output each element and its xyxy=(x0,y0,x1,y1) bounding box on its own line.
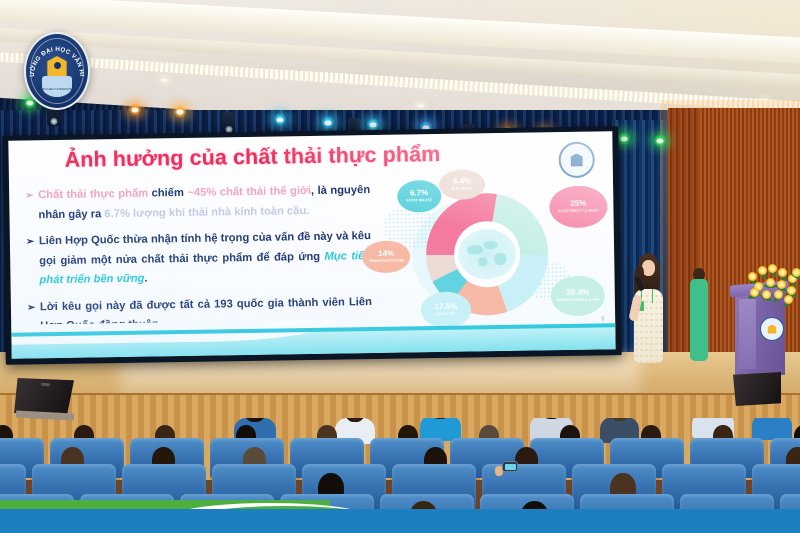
flower-bloom xyxy=(748,272,757,281)
bullet-text-segment: Chất thải thực phẩm xyxy=(38,188,152,202)
light-amber-2 xyxy=(172,105,188,118)
podium-university-logo xyxy=(760,317,784,341)
flower-bloom xyxy=(766,278,775,287)
slide-footer-wave xyxy=(11,323,615,358)
university-wall-emblem: TRƯỜNG ĐẠI HỌC VĂN HIẾN 1997 VAN HIEN UN… xyxy=(24,32,90,110)
bullet-text-segment: chiếm xyxy=(151,187,187,200)
slide-bullet: ➢Chất thải thực phẩm chiếm ~45% chất thả… xyxy=(25,181,371,225)
monitor-handle xyxy=(41,383,50,387)
emblem-gate-medallion-icon xyxy=(54,62,61,69)
podium-logo-gate-icon xyxy=(767,325,777,334)
audience-hand xyxy=(495,466,503,476)
bullet-arrow-icon: ➢ xyxy=(27,298,36,318)
label-value: 6.4% xyxy=(453,178,471,187)
label-caption: AGRICULTURE & LAND xyxy=(556,298,599,302)
bullet-arrow-icon: ➢ xyxy=(25,186,34,206)
label-value: 25% xyxy=(570,200,586,209)
light-cyan-2 xyxy=(320,116,336,129)
chart-label-transportation: 14% TRANSPORTATION xyxy=(362,240,410,273)
chart-label-food-waste: 6.7% FOOD WASTE xyxy=(397,180,441,213)
projection-screen: Ảnh hưởng của chất thải thực phẩm ➢Chất … xyxy=(8,131,615,358)
flower-bloom xyxy=(792,268,800,277)
downlight xyxy=(160,78,169,83)
flower-bloom xyxy=(768,264,777,273)
chart-label-agriculture-land: 20.4% AGRICULTURE & LAND xyxy=(551,275,606,316)
flower-bloom xyxy=(762,290,771,299)
emissions-infographic: 25% ELECTRICITY & HEAT 20.4% AGRICULTURE… xyxy=(375,165,612,345)
flower-bloom xyxy=(784,295,793,304)
downlight xyxy=(416,103,425,108)
continent-shape xyxy=(494,253,506,265)
light-fixture xyxy=(222,112,235,134)
flower-bloom xyxy=(777,280,786,289)
staff-person-background xyxy=(690,268,708,360)
emblem-subtext: VAN HIEN UNIVERSITY xyxy=(37,88,77,92)
continent-shape xyxy=(467,245,483,254)
chart-label-electricity-heat: 25% ELECTRICITY & HEAT xyxy=(549,185,608,228)
continent-shape xyxy=(484,241,497,249)
label-caption: BUILDINGS xyxy=(452,187,473,191)
person-body xyxy=(690,279,708,361)
light-cyan-1 xyxy=(272,113,288,126)
flower-bloom xyxy=(778,268,787,277)
label-value: 14% xyxy=(378,250,394,259)
slide-page-number: 3 xyxy=(601,316,604,322)
bottom-banner xyxy=(0,500,800,533)
slide-bullet: ➢Liên Hợp Quốc thừa nhận tính hệ trọng c… xyxy=(26,227,372,291)
flower-bloom xyxy=(758,266,767,275)
label-caption: INDUSTRY xyxy=(436,313,455,317)
label-caption: FOOD WASTE xyxy=(406,199,432,203)
auditorium-presentation-scene: TRƯỜNG ĐẠI HỌC VĂN HIẾN 1997 VAN HIEN UN… xyxy=(0,0,800,533)
presenter xyxy=(629,253,669,363)
stage-speaker-right xyxy=(733,372,781,406)
flower-bloom xyxy=(774,290,783,299)
bullet-text-segment: . xyxy=(144,273,147,285)
projection-screen-frame: Ảnh hưởng của chất thải thực phẩm ➢Chất … xyxy=(2,126,622,365)
label-value: 17.5% xyxy=(435,303,458,312)
continent-shape xyxy=(478,257,487,266)
podium-side-panel xyxy=(739,299,756,369)
light-green-3 xyxy=(652,134,668,147)
bullet-text-segment: 6.7% lượng khí thải nhà kính toàn cầu. xyxy=(104,205,309,220)
label-caption: ELECTRICITY & HEAT xyxy=(558,209,598,213)
bullet-text-segment: ~45% chất thải thế giới xyxy=(187,185,311,199)
flower-arrangement xyxy=(744,262,798,304)
chart-label-industry: 17.5% INDUSTRY xyxy=(421,292,472,329)
bullet-arrow-icon: ➢ xyxy=(26,232,35,252)
audience-member-torso xyxy=(752,418,792,440)
smartphone-recording xyxy=(503,462,517,471)
stage-floor-monitor-speaker xyxy=(14,378,74,422)
flower-bloom xyxy=(787,286,796,295)
light-amber-1 xyxy=(127,103,143,116)
label-caption: TRANSPORTATION xyxy=(369,259,404,263)
bullet-text-segment: Liên Hợp Quốc thừa nhận tính hệ trọng củ… xyxy=(39,230,371,267)
label-value: 6.7% xyxy=(410,190,428,199)
slide-logo-gate-icon xyxy=(569,153,584,166)
label-value: 20.4% xyxy=(566,289,589,298)
flower-bloom xyxy=(750,288,759,297)
